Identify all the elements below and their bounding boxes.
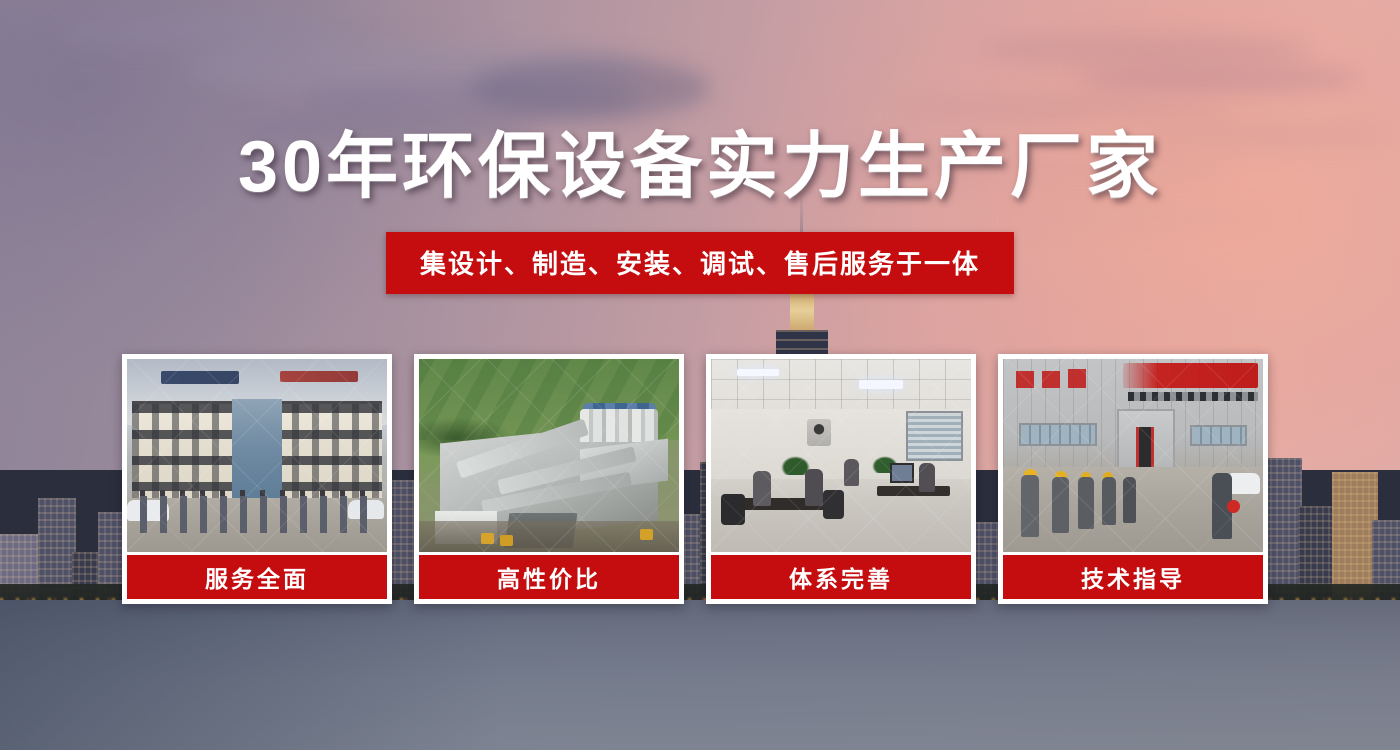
card-caption: 体系完善 — [711, 552, 971, 599]
cloud-wisp — [1010, 208, 1290, 226]
photo-office-facade — [132, 401, 382, 501]
card-caption: 技术指导 — [1003, 552, 1263, 599]
promo-banner: 30年环保设备实力生产厂家 集设计、制造、安装、调试、售后服务于一体 — [0, 0, 1400, 750]
photo-employee — [753, 471, 771, 506]
photo-wall-strip — [1128, 392, 1258, 402]
photo-excavator — [640, 529, 653, 541]
photo-excavator — [500, 535, 513, 547]
card-caption: 服务全面 — [127, 552, 387, 599]
photo-chair — [721, 494, 744, 525]
cloud-wisp — [980, 34, 1310, 66]
card-photo-industrial-plant — [419, 359, 679, 552]
photo-silos — [580, 409, 658, 442]
photo-phone-number — [280, 371, 358, 383]
photo-layer — [419, 359, 679, 552]
photo-red-helmet — [1227, 500, 1240, 514]
photo-chair — [823, 490, 844, 519]
photo-ceiling-light — [737, 369, 779, 377]
photo-worker — [1123, 477, 1136, 523]
photo-worker — [1052, 477, 1069, 533]
subtitle-banner: 集设计、制造、安装、调试、售后服务于一体 — [386, 232, 1014, 294]
photo-factory-door — [1136, 427, 1154, 469]
river-reflection — [0, 600, 1400, 750]
feature-card-guidance[interactable]: 技术指导 — [998, 354, 1268, 604]
photo-ceiling-grid — [711, 359, 971, 409]
feature-card-value[interactable]: 高性价比 — [414, 354, 684, 604]
card-photo-factory-workers — [1003, 359, 1263, 552]
photo-worker — [1021, 475, 1039, 537]
feature-card-service[interactable]: 服务全面 — [122, 354, 392, 604]
photo-company-signage — [161, 371, 239, 385]
photo-wall-emblem — [807, 419, 830, 446]
photo-layer — [127, 359, 387, 552]
photo-ceiling-light — [859, 380, 903, 389]
card-photo-office-interior — [711, 359, 971, 552]
photo-worker — [1078, 477, 1094, 529]
card-caption: 高性价比 — [419, 552, 679, 599]
photo-slogan-small — [1042, 371, 1060, 388]
photo-layer — [1003, 359, 1263, 552]
photo-red-slogan — [1123, 363, 1258, 388]
page-title: 30年环保设备实力生产厂家 — [0, 128, 1400, 207]
photo-desk — [877, 486, 950, 496]
photo-employee — [844, 459, 860, 486]
card-photo-office-building — [127, 359, 387, 552]
feature-card-system[interactable]: 体系完善 — [706, 354, 976, 604]
photo-employee — [919, 463, 935, 492]
photo-window — [1019, 423, 1097, 446]
feature-card-row: 服务全面 — [122, 354, 1278, 604]
photo-slogan-small — [1016, 371, 1034, 388]
photo-window-blinds — [906, 411, 963, 461]
cloud-wisp — [1080, 66, 1360, 92]
photo-window — [1190, 425, 1247, 446]
photo-excavator — [481, 533, 494, 545]
photo-employee — [805, 469, 823, 506]
photo-worker — [1102, 477, 1116, 525]
photo-slogan-small — [1068, 369, 1086, 388]
photo-layer — [711, 359, 971, 552]
photo-staff-row — [140, 496, 374, 533]
cloud-wisp — [900, 96, 1230, 120]
cloud-wisp — [470, 58, 710, 118]
photo-monitor — [890, 463, 913, 482]
